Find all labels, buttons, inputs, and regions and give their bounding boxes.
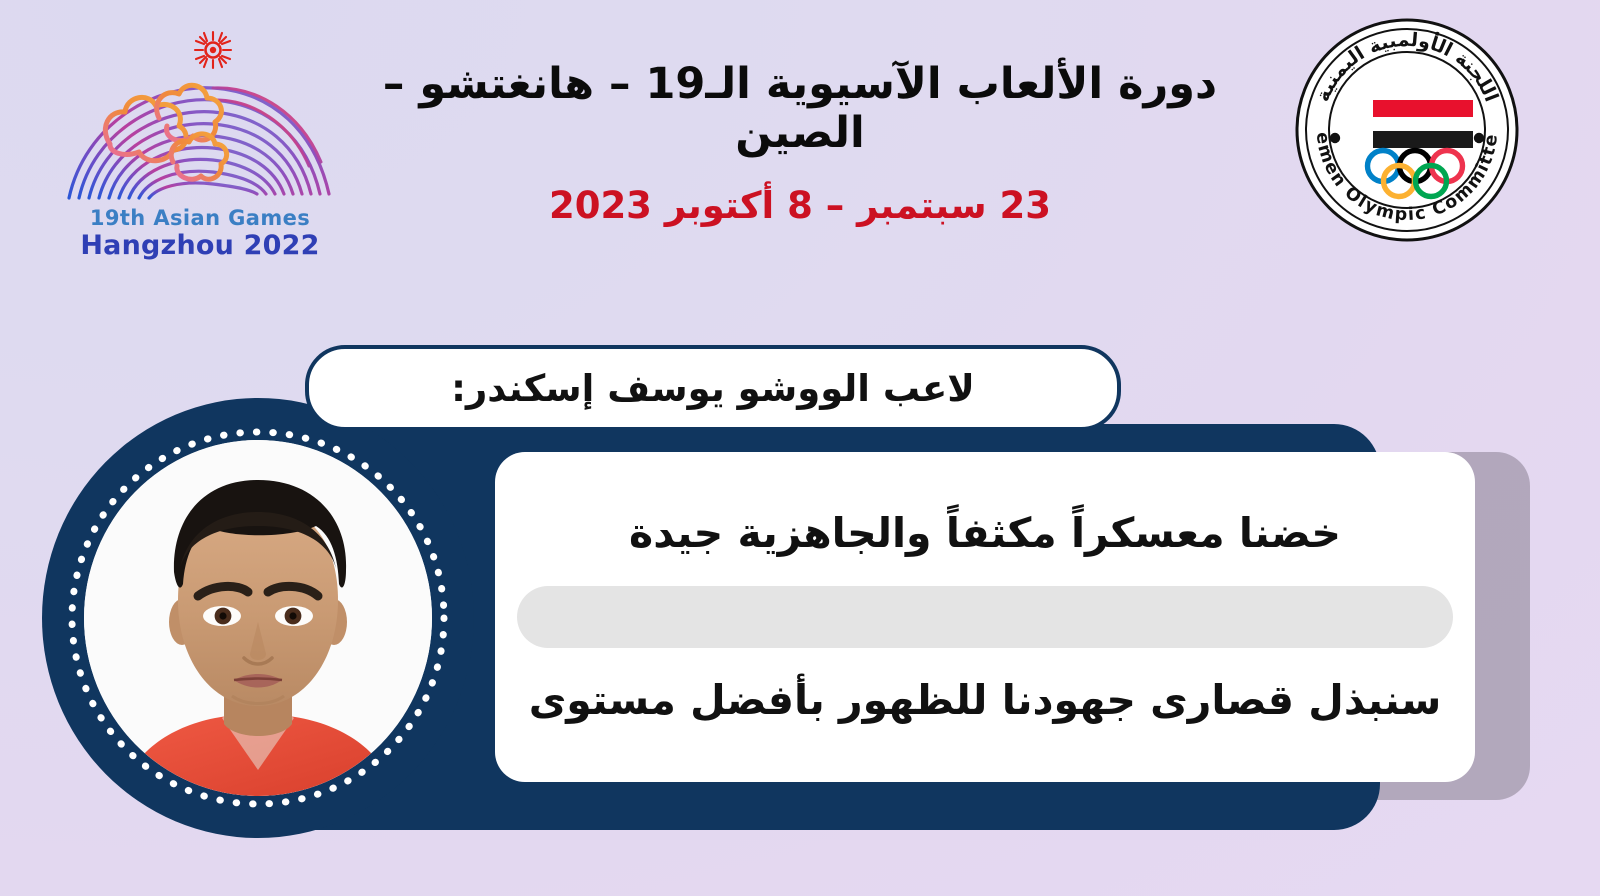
quote-line-2: سنبذل قصارى جهودنا للظهور بأفضل مستوى bbox=[495, 674, 1475, 727]
asian-games-logo-line1: 19th Asian Games bbox=[55, 206, 345, 230]
yemen-flag-icon bbox=[1373, 100, 1473, 148]
yemen-olympic-committee-emblem: اللجنة الأولمبية اليمنية Yemen Olympic C… bbox=[1291, 14, 1523, 246]
quote-divider-bar bbox=[517, 586, 1453, 648]
event-title: دورة الألعاب الآسيوية الـ19 – هانغتشو – … bbox=[360, 60, 1240, 159]
athlete-portrait bbox=[42, 398, 474, 838]
quote-card: خضنا معسكراً مكثفاً والجاهزية جيدة سنبذل… bbox=[495, 452, 1475, 782]
asian-games-logo: 19th Asian Games Hangzhou 2022 bbox=[55, 14, 345, 264]
quote-line-1: خضنا معسكراً مكثفاً والجاهزية جيدة bbox=[495, 507, 1475, 560]
header-banner: 19th Asian Games Hangzhou 2022 دورة الأل… bbox=[0, 0, 1600, 270]
speaker-title-text: لاعب الووشو يوسف إسكندر: bbox=[451, 367, 975, 410]
portrait-photo-image bbox=[84, 440, 432, 796]
asian-games-fan-icon bbox=[63, 66, 338, 206]
event-date: 23 سبتمبر – 8 أكتوبر 2023 bbox=[360, 185, 1240, 228]
speaker-title-pill: لاعب الووشو يوسف إسكندر: bbox=[305, 345, 1121, 431]
asian-games-logo-line2: Hangzhou 2022 bbox=[55, 230, 345, 261]
asian-games-sun-icon bbox=[193, 30, 233, 70]
title-block: دورة الألعاب الآسيوية الـ19 – هانغتشو – … bbox=[360, 60, 1240, 227]
